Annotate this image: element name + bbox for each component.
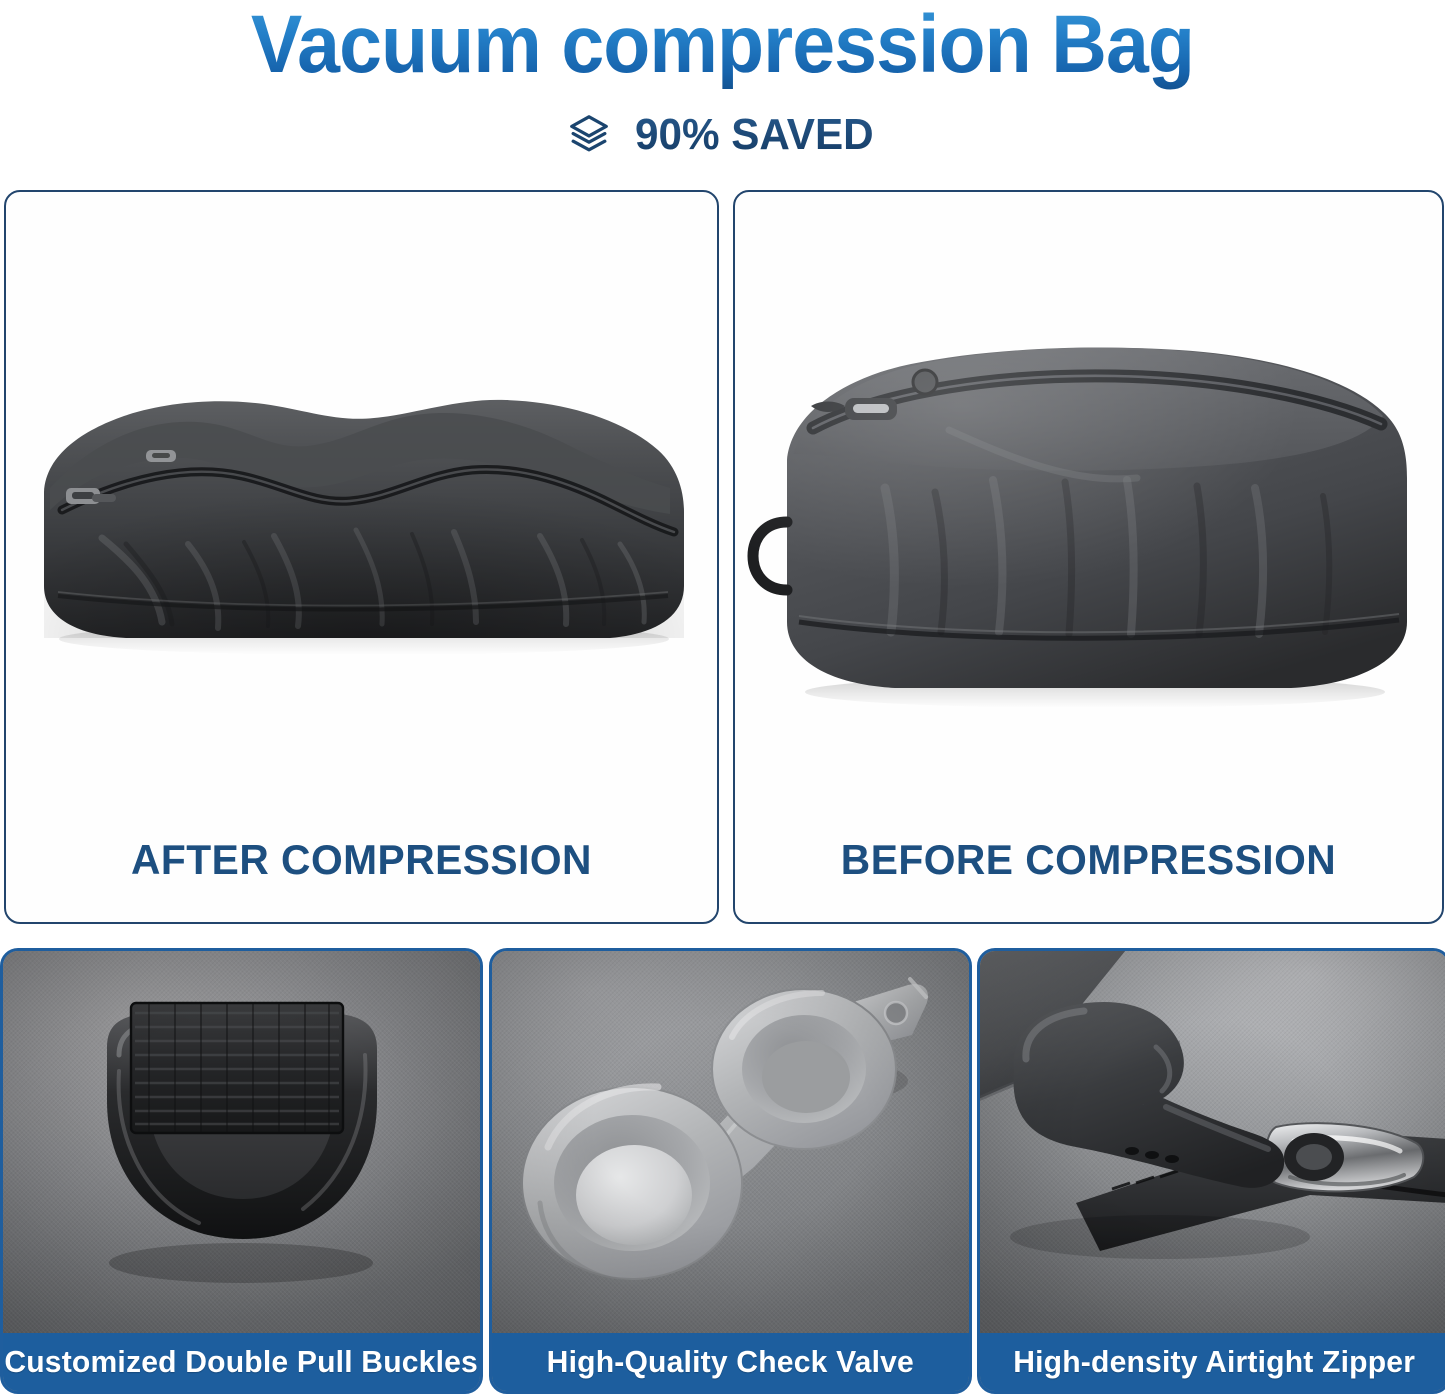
- saved-badge: 90% SAVED: [0, 110, 1445, 160]
- saved-percent-label: 90% SAVED: [635, 110, 874, 160]
- valve-photo: [492, 951, 969, 1333]
- feature-label-valve: High-Quality Check Valve: [547, 1344, 914, 1380]
- feature-label-bar-buckle: Customized Double Pull Buckles: [3, 1333, 480, 1391]
- bag-photo-uncompressed: [735, 192, 1442, 812]
- bag-photo-compressed: [6, 192, 717, 812]
- header: Vacuum compression Bag 90% SAVED: [0, 0, 1445, 182]
- layers-stack-icon: [566, 112, 612, 158]
- zipper-photo: [980, 951, 1445, 1333]
- feature-label-bar-valve: High-Quality Check Valve: [492, 1333, 969, 1391]
- comparison-panel-before: BEFORE COMPRESSION: [733, 190, 1444, 924]
- feature-label-zipper: High-density Airtight Zipper: [1013, 1344, 1415, 1380]
- feature-label-bar-zipper: High-density Airtight Zipper: [980, 1333, 1445, 1391]
- feature-card-valve: High-Quality Check Valve: [489, 948, 972, 1394]
- page-title: Vacuum compression Bag: [43, 0, 1401, 94]
- buckle-photo: [3, 951, 480, 1333]
- feature-card-zipper: High-density Airtight Zipper: [977, 948, 1445, 1394]
- product-infographic: Vacuum compression Bag 90% SAVED: [0, 0, 1445, 1394]
- feature-card-buckle: Customized Double Pull Buckles: [0, 948, 483, 1394]
- caption-before-compression: BEFORE COMPRESSION: [746, 836, 1432, 884]
- feature-label-buckle: Customized Double Pull Buckles: [5, 1344, 479, 1380]
- caption-after-compression: AFTER COMPRESSION: [17, 836, 707, 884]
- comparison-panel-after: AFTER COMPRESSION: [4, 190, 719, 924]
